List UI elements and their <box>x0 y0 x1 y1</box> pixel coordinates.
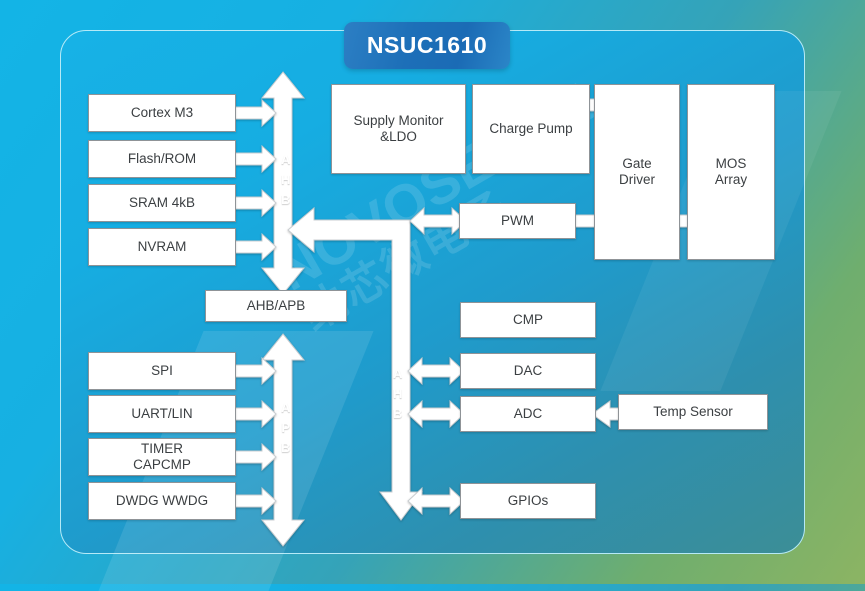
block-uart-lin-label: UART/LIN <box>131 406 192 421</box>
block-supply-monitor-ldo[interactable]: Supply Monitor &LDO <box>331 84 466 174</box>
block-supply-monitor-ldo-label-line1: Supply Monitor <box>353 113 443 129</box>
ahb-analog-letter-a: A <box>390 364 406 384</box>
arrow-adc-ahb <box>408 401 464 427</box>
block-flash-rom[interactable]: Flash/ROM <box>88 140 236 178</box>
block-supply-monitor-ldo-label-line2: &LDO <box>380 129 417 145</box>
block-dac[interactable]: DAC <box>460 353 596 389</box>
block-mos-array[interactable]: MOS Array <box>687 84 775 260</box>
arrow-pwm-ahb <box>410 208 466 234</box>
block-timer-capcmp[interactable]: TIMER CAPCMP <box>88 438 236 476</box>
block-ahb-apb-bridge-label: AHB/APB <box>247 298 306 313</box>
ahb-main-bus-label: A H B <box>278 150 294 210</box>
block-charge-pump-label: Charge Pump <box>489 121 572 136</box>
block-dac-label: DAC <box>514 363 543 378</box>
block-cortex-m3[interactable]: Cortex M3 <box>88 94 236 132</box>
block-pwm-label: PWM <box>501 213 534 228</box>
block-cortex-m3-label: Cortex M3 <box>131 105 193 120</box>
block-gpios[interactable]: GPIOs <box>460 483 596 519</box>
arrow-gpios-ahb <box>408 488 464 514</box>
block-ahb-apb-bridge[interactable]: AHB/APB <box>205 290 347 322</box>
block-sram-4kb-label: SRAM 4kB <box>129 195 195 210</box>
block-uart-lin[interactable]: UART/LIN <box>88 395 236 433</box>
ahb-analog-bus-arrow <box>288 200 428 540</box>
ahb-analog-letter-b: B <box>390 404 406 424</box>
block-pwm[interactable]: PWM <box>459 203 576 239</box>
block-nvram-label: NVRAM <box>138 239 187 254</box>
block-cmp-label: CMP <box>513 312 543 327</box>
block-temp-sensor-label: Temp Sensor <box>653 404 733 419</box>
block-mos-array-label-line1: MOS <box>716 156 747 172</box>
block-mos-array-label-line2: Array <box>715 172 747 188</box>
block-dwdg-wwdg-label: DWDG WWDG <box>116 493 208 508</box>
chip-title: NSUC1610 <box>367 32 487 59</box>
block-cmp[interactable]: CMP <box>460 302 596 338</box>
block-gate-driver-label-line2: Driver <box>619 172 655 188</box>
block-nvram[interactable]: NVRAM <box>88 228 236 266</box>
block-sram-4kb[interactable]: SRAM 4kB <box>88 184 236 222</box>
apb-bus-label: A P B <box>278 398 294 458</box>
block-charge-pump[interactable]: Charge Pump <box>472 84 590 174</box>
diagram-canvas: NOVOSENSE 纳芯微电子 NSUC1610 A H B A P B A H… <box>0 0 865 584</box>
ahb-analog-letter-h: H <box>390 384 406 404</box>
block-temp-sensor[interactable]: Temp Sensor <box>618 394 768 430</box>
block-gate-driver[interactable]: Gate Driver <box>594 84 680 260</box>
block-spi-label: SPI <box>151 363 173 378</box>
chip-title-pill: NSUC1610 <box>344 22 510 69</box>
ahb-main-letter-a: A <box>278 150 294 170</box>
block-spi[interactable]: SPI <box>88 352 236 390</box>
ahb-main-letter-h: H <box>278 170 294 190</box>
apb-letter-p: P <box>278 418 294 438</box>
apb-letter-b: B <box>278 438 294 458</box>
block-adc[interactable]: ADC <box>460 396 596 432</box>
arrow-dac-ahb <box>408 358 464 384</box>
ahb-main-letter-b: B <box>278 190 294 210</box>
block-dwdg-wwdg[interactable]: DWDG WWDG <box>88 482 236 520</box>
ahb-analog-bus-label: A H B <box>390 364 406 424</box>
block-timer-capcmp-label-line2: CAPCMP <box>133 457 191 473</box>
block-gpios-label: GPIOs <box>508 493 549 508</box>
apb-letter-a: A <box>278 398 294 418</box>
block-timer-capcmp-label-line1: TIMER <box>141 441 183 457</box>
block-flash-rom-label: Flash/ROM <box>128 151 196 166</box>
block-adc-label: ADC <box>514 406 543 421</box>
block-gate-driver-label-line1: Gate <box>622 156 651 172</box>
